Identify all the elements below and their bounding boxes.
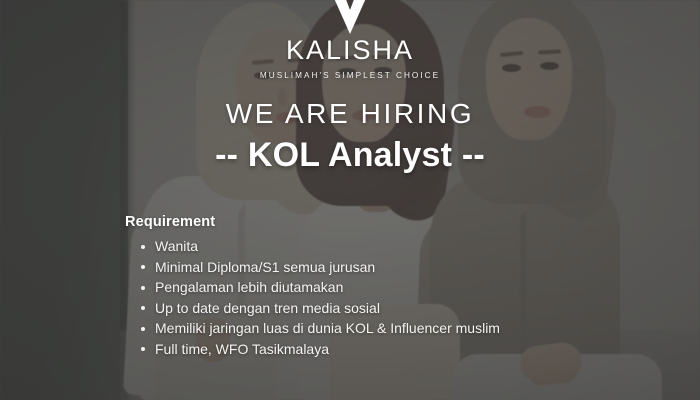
poster-content: KALISHA MUSLIMAH'S SIMPLEST CHOICE WE AR… bbox=[0, 0, 700, 400]
requirements-list: Wanita Minimal Diploma/S1 semua jurusan … bbox=[125, 236, 500, 359]
brand-lockup: KALISHA MUSLIMAH'S SIMPLEST CHOICE bbox=[0, 0, 700, 80]
kalisha-logo-icon bbox=[319, 0, 381, 36]
list-item: Full time, WFO Tasikmalaya bbox=[141, 339, 500, 360]
list-item: Wanita bbox=[141, 236, 500, 257]
list-item: Pengalaman lebih diutamakan bbox=[141, 277, 500, 298]
brand-tagline: MUSLIMAH'S SIMPLEST CHOICE bbox=[0, 71, 700, 80]
requirements-block: Requirement Wanita Minimal Diploma/S1 se… bbox=[125, 214, 500, 359]
brand-name: KALISHA bbox=[0, 37, 700, 64]
job-title: -- KOL Analyst -- bbox=[0, 136, 700, 175]
hiring-poster: KALISHA MUSLIMAH'S SIMPLEST CHOICE WE AR… bbox=[0, 0, 700, 400]
list-item: Memiliki jaringan luas di dunia KOL & In… bbox=[141, 318, 500, 339]
list-item: Up to date dengan tren media sosial bbox=[141, 298, 500, 319]
requirements-heading: Requirement bbox=[125, 214, 500, 230]
hiring-headline: WE ARE HIRING bbox=[0, 98, 700, 130]
list-item: Minimal Diploma/S1 semua jurusan bbox=[141, 257, 500, 278]
